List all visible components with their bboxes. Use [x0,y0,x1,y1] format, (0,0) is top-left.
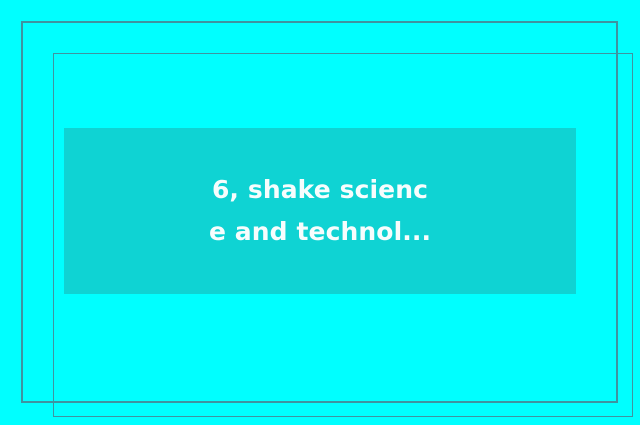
screenshot-canvas: 6, shake scienc e and technol... [0,0,640,425]
caption-text: 6, shake scienc e and technol... [64,169,576,253]
caption-panel: 6, shake scienc e and technol... [64,128,576,294]
